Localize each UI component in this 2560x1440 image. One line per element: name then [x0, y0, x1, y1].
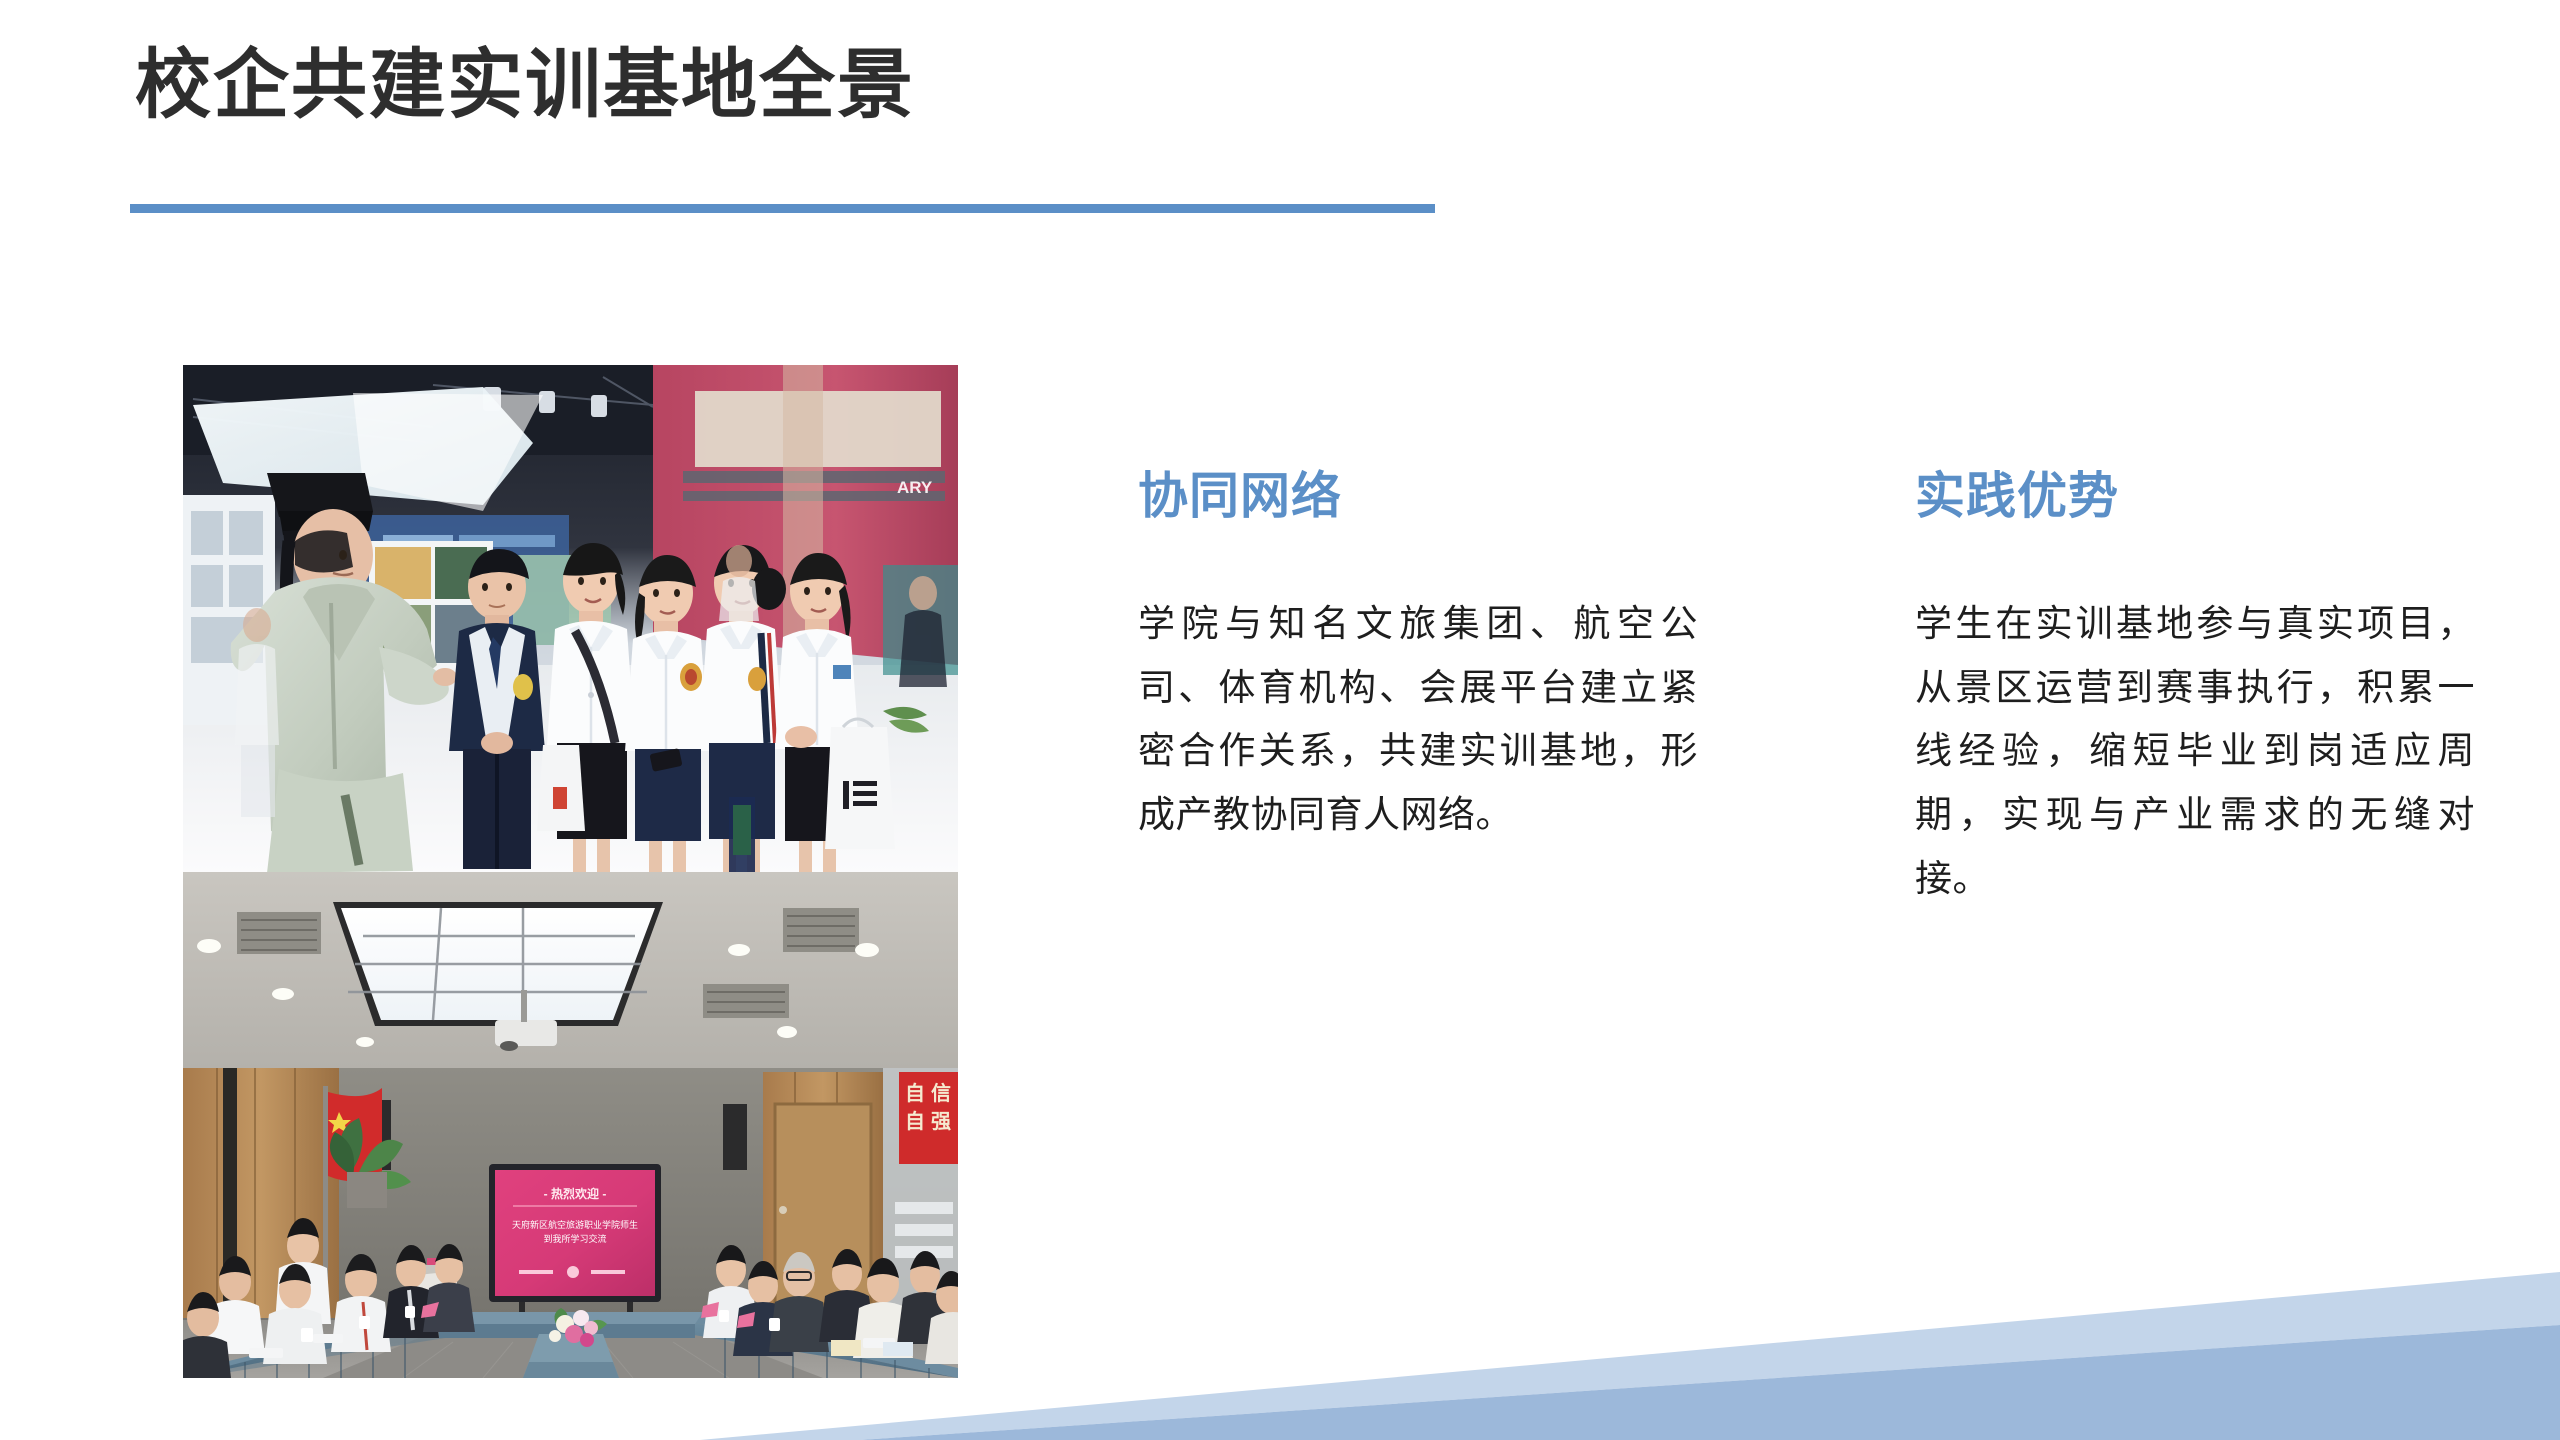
svg-text:到我所学习交流: 到我所学习交流 [543, 1233, 606, 1244]
conference-room-meeting-photo: 自 信 自 强 [183, 872, 958, 1378]
slide-root: 校企共建实训基地全景 [0, 0, 2560, 1440]
exhibition-booth-students-photo: ARY [183, 365, 958, 872]
diagonal-band-dark [860, 1325, 2560, 1440]
svg-text:强: 强 [931, 1111, 951, 1133]
diagonal-band-light [700, 1272, 2560, 1440]
column-body-1: 学院与知名文旅集团、航空公司、体育机构、会展平台建立紧密合作关系，共建实训基地，… [1138, 592, 1698, 847]
page-title: 校企共建实训基地全景 [135, 38, 1535, 133]
title-block: 校企共建实训基地全景 [135, 38, 1535, 133]
photo-stack: ARY [183, 365, 958, 1378]
column-heading-2: 实践优势 [1915, 466, 2475, 526]
svg-text:天府新区航空旅游职业学院师生: 天府新区航空旅游职业学院师生 [512, 1219, 638, 1230]
svg-text:自: 自 [905, 1109, 925, 1133]
svg-text:ARY: ARY [897, 478, 933, 497]
svg-text:自: 自 [905, 1081, 925, 1105]
content-column-collaborative-network: 协同网络 学院与知名文旅集团、航空公司、体育机构、会展平台建立紧密合作关系，共建… [1138, 466, 1698, 847]
column-body-2: 学生在实训基地参与真实项目，从景区运营到赛事执行，积累一线经验，缩短毕业到岗适应… [1915, 592, 2475, 910]
svg-text:信: 信 [931, 1081, 951, 1105]
column-heading-1: 协同网络 [1138, 466, 1698, 526]
svg-text:- 热烈欢迎 -: - 热烈欢迎 - [544, 1186, 607, 1201]
title-divider-rule [130, 204, 1435, 213]
content-column-practice-advantage: 实践优势 学生在实训基地参与真实项目，从景区运营到赛事执行，积累一线经验，缩短毕… [1915, 466, 2475, 910]
